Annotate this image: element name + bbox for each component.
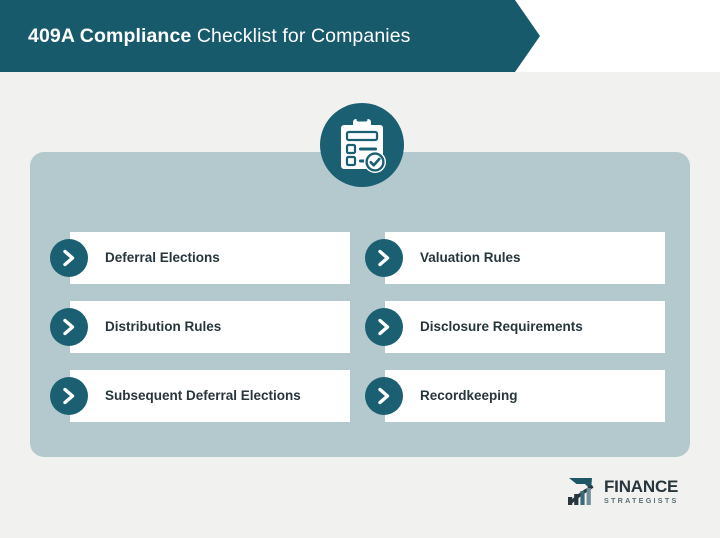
chevron-right-icon <box>50 308 88 346</box>
chevron-right-icon <box>365 377 403 415</box>
header-banner: 409A Compliance Checklist for Companies <box>0 0 540 72</box>
chevron-right-icon <box>50 239 88 277</box>
chevron-right-icon <box>365 239 403 277</box>
list-item[interactable]: Distribution Rules <box>50 301 350 353</box>
checklist-items: Deferral Elections Distribution Rules Su… <box>50 232 670 427</box>
page-title-rest: Checklist for Companies <box>191 25 410 47</box>
page-title-strong: 409A Compliance <box>28 25 191 47</box>
logo-wordmark: FINANCE STRATEGISTS <box>604 478 679 504</box>
clipboard-checklist-icon <box>320 103 404 187</box>
list-item[interactable]: Deferral Elections <box>50 232 350 284</box>
logo-primary-text: FINANCE <box>604 478 679 495</box>
list-item[interactable]: Valuation Rules <box>365 232 665 284</box>
list-item-card[interactable]: Valuation Rules <box>385 232 665 284</box>
list-item-card[interactable]: Recordkeeping <box>385 370 665 422</box>
page-title: 409A Compliance Checklist for Companies <box>28 25 411 48</box>
infographic-canvas: 409A Compliance Checklist for Companies <box>0 0 720 538</box>
list-item[interactable]: Subsequent Deferral Elections <box>50 370 350 422</box>
list-item[interactable]: Recordkeeping <box>365 370 665 422</box>
chevron-right-icon <box>50 377 88 415</box>
header-corner-background <box>515 0 720 72</box>
bar-chart-arrow-logo-mark <box>566 476 600 506</box>
chevron-right-icon <box>365 308 403 346</box>
list-item-label: Disclosure Requirements <box>420 318 583 336</box>
brand-logo: FINANCE STRATEGISTS <box>566 473 686 509</box>
list-item-label: Distribution Rules <box>105 318 221 336</box>
list-item[interactable]: Disclosure Requirements <box>365 301 665 353</box>
list-item-label: Valuation Rules <box>420 249 521 267</box>
list-item-card[interactable]: Subsequent Deferral Elections <box>70 370 350 422</box>
list-item-label: Subsequent Deferral Elections <box>105 387 301 405</box>
logo-secondary-text: STRATEGISTS <box>604 497 679 504</box>
list-item-label: Deferral Elections <box>105 249 220 267</box>
list-item-card[interactable]: Disclosure Requirements <box>385 301 665 353</box>
list-item-card[interactable]: Distribution Rules <box>70 301 350 353</box>
list-item-label: Recordkeeping <box>420 387 518 405</box>
list-item-card[interactable]: Deferral Elections <box>70 232 350 284</box>
